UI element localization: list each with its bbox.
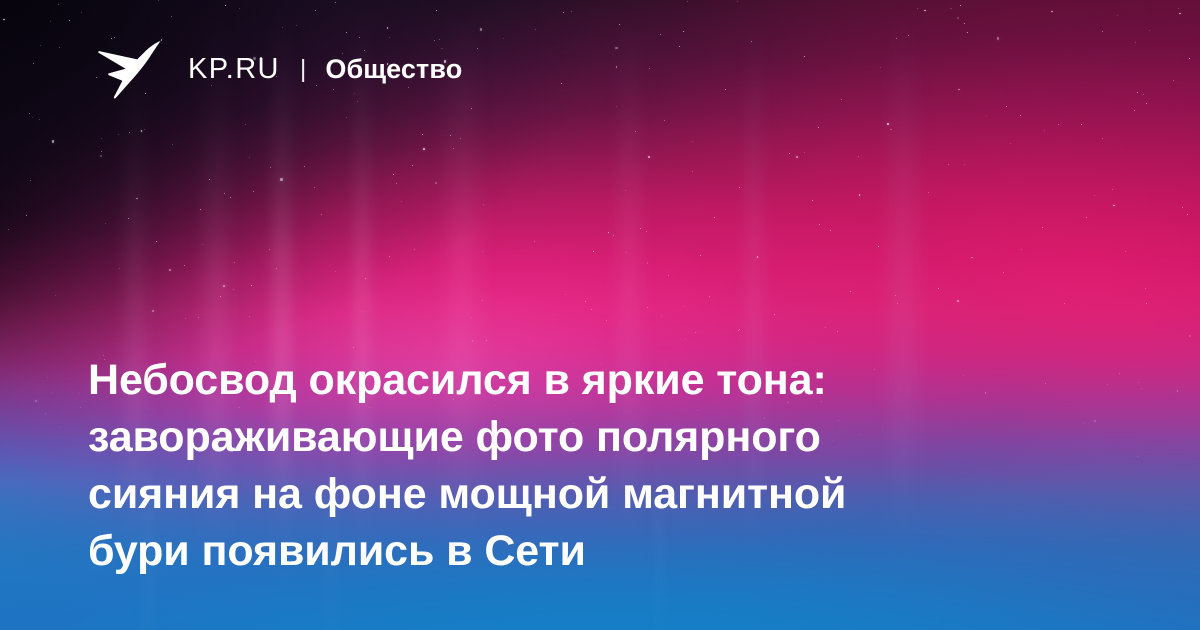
brand-header[interactable]: KP.RU | Общество — [92, 38, 462, 100]
swallow-bird-logo-icon — [92, 38, 164, 100]
headline-line: завораживающие фото полярного — [88, 409, 1018, 466]
headline-line: сияния на фоне мощной магнитной — [88, 466, 1018, 523]
headline-title: Небосвод окрасился в яркие тона: завораж… — [88, 352, 1018, 580]
brand-separator: | — [300, 57, 307, 82]
card-content: KP.RU | Общество Небосвод окрасился в яр… — [0, 0, 1200, 630]
share-card: KP.RU | Общество Небосвод окрасился в яр… — [0, 0, 1200, 630]
headline-line: Небосвод окрасился в яркие тона: — [88, 352, 1018, 409]
headline-line: бури появились в Сети — [88, 523, 1018, 580]
brand-name-label[interactable]: KP.RU — [188, 55, 280, 84]
rubric-label[interactable]: Общество — [325, 56, 462, 83]
